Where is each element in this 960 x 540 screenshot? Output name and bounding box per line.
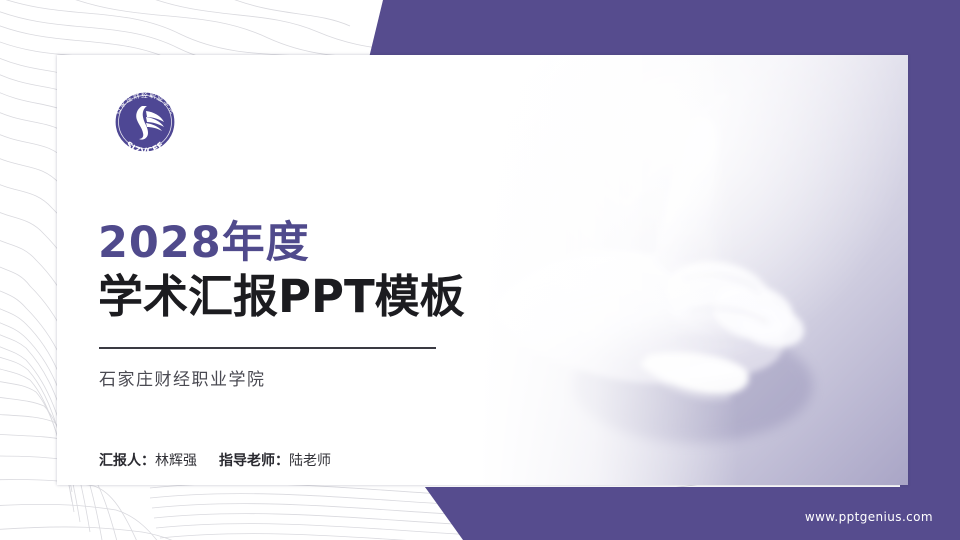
presentation-slide: 石家庄财经职业学院 SJZVCFE 2028年度 学术汇报PPT模板 石家庄财经… — [0, 0, 960, 540]
presenter-name: 林辉强 — [155, 453, 197, 469]
advisor-name: 陆老师 — [289, 453, 331, 469]
title-block: 2028年度 学术汇报PPT模板 石家庄财经职业学院 — [98, 220, 465, 390]
credits-line: 汇报人：林辉强指导老师：陆老师 — [99, 450, 331, 470]
presenter-label: 汇报人： — [99, 453, 155, 469]
title-divider — [99, 347, 436, 349]
title-headline: 学术汇报PPT模板 — [98, 272, 465, 322]
title-year: 2028年度 — [98, 220, 465, 266]
footer-website-url[interactable]: www.pptgenius.com — [805, 510, 933, 524]
organization-name: 石家庄财经职业学院 — [99, 365, 465, 390]
advisor-label: 指导老师： — [219, 453, 289, 469]
university-logo: 石家庄财经职业学院 SJZVCFE — [102, 79, 188, 165]
content-card: 石家庄财经职业学院 SJZVCFE 2028年度 学术汇报PPT模板 石家庄财经… — [57, 55, 908, 485]
pointing-hand-photo — [478, 55, 908, 485]
